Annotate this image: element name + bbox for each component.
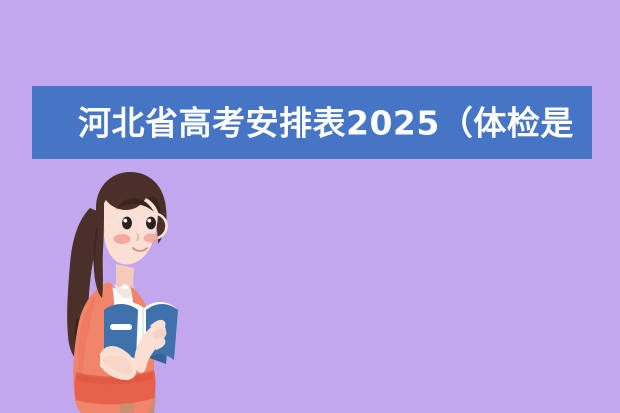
- girl-reading-book-illustration: [38, 168, 188, 413]
- title-banner: 河北省高考安排表2025（体检是: [32, 86, 592, 159]
- thumbnail-canvas: 河北省高考安排表2025（体检是: [0, 0, 620, 413]
- page-title: 河北省高考安排表2025（体检是: [78, 106, 574, 139]
